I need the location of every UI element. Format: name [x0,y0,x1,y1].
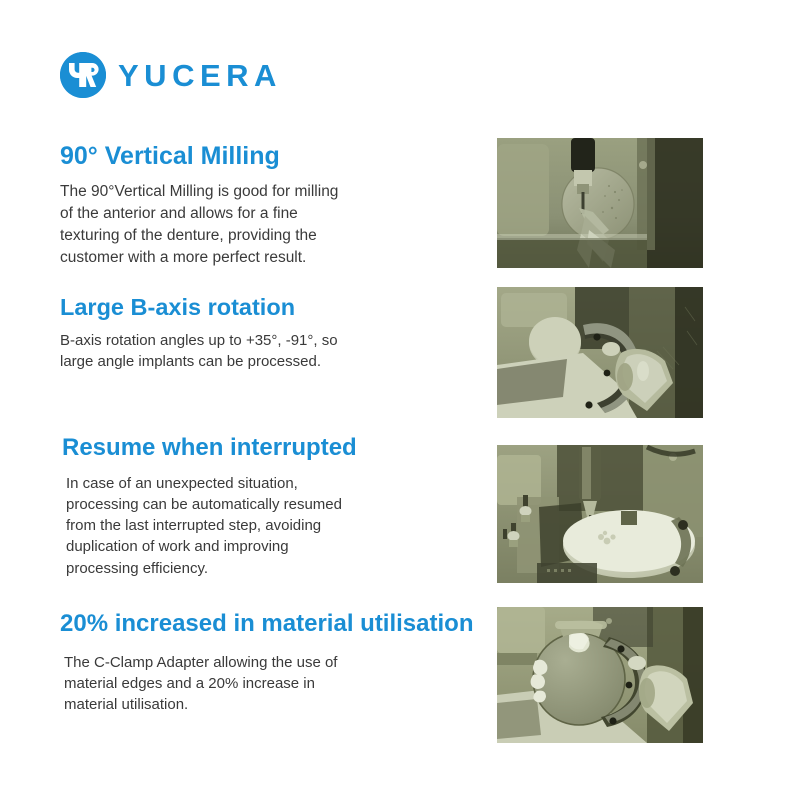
feature-body: In case of an unexpected situation, proc… [62,473,482,579]
feature-block-b-axis-rotation: Large B-axis rotation B-axis rotation an… [60,294,480,373]
feature-block-material-utilisation: 20% increased in material utilisation Th… [60,610,480,715]
feature-sheet-page: YUCERA 90° Vertical Milling The 90°Verti… [0,0,800,800]
yucera-yr-monogram-icon [60,52,106,98]
feature-body: B-axis rotation angles up to +35°, -91°,… [60,330,480,373]
feature-block-resume-when-interrupted: Resume when interrupted In case of an un… [62,434,482,579]
feature-block-vertical-milling: 90° Vertical Milling The 90°Vertical Mil… [60,142,480,269]
photo-c-clamp-adapter-disc [497,607,703,743]
photo-b-axis-rotation-mechanism [497,287,703,418]
feature-body: The C-Clamp Adapter allowing the use of … [60,652,480,716]
photo-vertical-milling-spindle [497,138,703,268]
feature-body: The 90°Vertical Milling is good for mill… [60,181,480,269]
brand-wordmark: YUCERA [118,60,282,91]
brand-logo: YUCERA [60,52,282,98]
feature-heading: Large B-axis rotation [60,294,480,321]
feature-heading: 20% increased in material utilisation [60,610,480,638]
photo-milling-disc-blank [497,445,703,583]
feature-heading: 90° Vertical Milling [60,142,480,171]
feature-heading: Resume when interrupted [62,434,482,462]
